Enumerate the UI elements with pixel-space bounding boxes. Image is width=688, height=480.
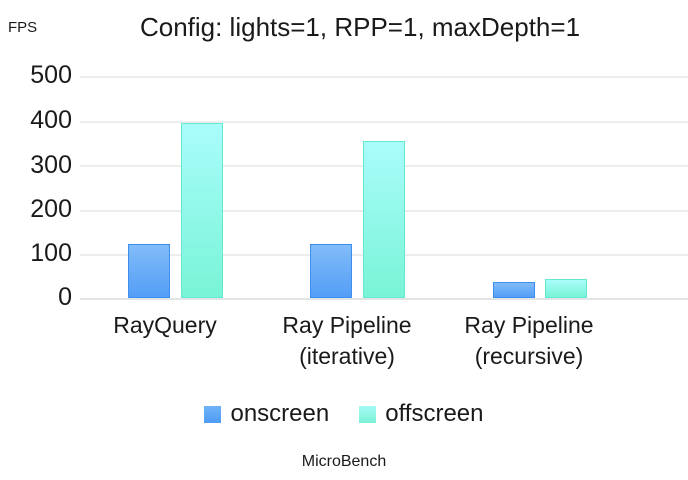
y-tick-100: 100 [4,241,72,266]
chart-title: Config: lights=1, RPP=1, maxDepth=1 [80,13,640,42]
bar-rayquery-offscreen[interactable] [181,123,223,298]
y-axis-unit-label: FPS [8,20,37,35]
legend-label-offscreen: offscreen [385,402,483,426]
x-axis-title: MicroBench [0,454,688,470]
y-tick-300: 300 [4,153,72,178]
bar-ray-pipeline-recursive-offscreen[interactable] [545,279,587,298]
category-label-line: RayQuery [65,310,265,341]
legend-label-onscreen: onscreen [230,402,329,426]
bar-chart: FPS Config: lights=1, RPP=1, maxDepth=1 … [0,0,688,480]
gridline-0 [80,298,688,300]
legend-swatch-icon-offscreen [359,406,376,423]
y-tick-400: 400 [4,108,72,133]
category-label-ray-pipeline-recursive: Ray Pipeline (recursive) [429,310,629,372]
category-label-line: (iterative) [247,341,447,372]
chart-legend: onscreen offscreen [0,402,688,426]
legend-item-onscreen[interactable]: onscreen [204,402,329,426]
y-tick-200: 200 [4,197,72,222]
legend-swatch-icon-onscreen [204,406,221,423]
legend-item-offscreen[interactable]: offscreen [359,402,483,426]
gridline-400 [80,121,688,123]
bar-ray-pipeline-recursive-onscreen[interactable] [493,282,535,298]
y-axis-tick-labels: 500 400 300 200 100 0 [0,76,72,298]
x-axis-category-labels: RayQuery Ray Pipeline (iterative) Ray Pi… [80,310,688,390]
category-label-line: (recursive) [429,341,629,372]
bar-ray-pipeline-iterative-onscreen[interactable] [310,244,352,298]
category-label-line: Ray Pipeline [247,310,447,341]
gridline-500 [80,76,688,78]
category-label-ray-pipeline-iterative: Ray Pipeline (iterative) [247,310,447,372]
y-tick-0: 0 [4,285,72,310]
plot-area [80,76,688,298]
bar-ray-pipeline-iterative-offscreen[interactable] [363,141,405,298]
category-label-line: Ray Pipeline [429,310,629,341]
y-tick-500: 500 [4,63,72,88]
bar-rayquery-onscreen[interactable] [128,244,170,298]
category-label-rayquery: RayQuery [65,310,265,341]
